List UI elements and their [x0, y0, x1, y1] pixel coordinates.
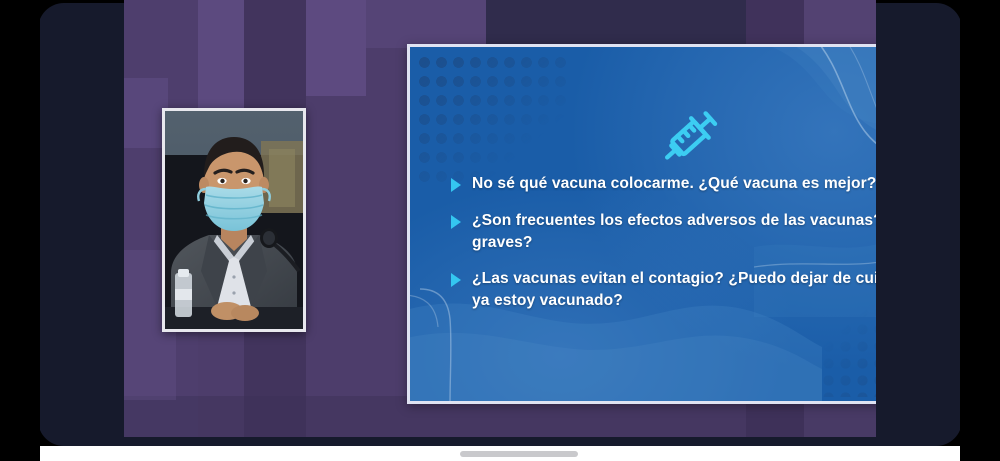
triangle-bullet-icon	[451, 178, 461, 192]
syringe-icon	[653, 105, 729, 167]
bullet-text: ¿Las vacunas evitan el contagio? ¿Puedo …	[472, 268, 876, 312]
right-gutter	[960, 0, 1000, 446]
shared-screen-area[interactable]: No sé qué vacuna colocarme. ¿Qué vacuna …	[124, 0, 876, 437]
list-item: ¿Son frecuentes los efectos adversos de …	[451, 210, 876, 254]
triangle-bullet-icon	[451, 273, 461, 287]
triangle-bullet-icon	[451, 215, 461, 229]
halftone-dots-icon	[416, 53, 566, 188]
list-item: ¿Las vacunas evitan el contagio? ¿Puedo …	[451, 268, 876, 312]
presentation-slide[interactable]: No sé qué vacuna colocarme. ¿Qué vacuna …	[407, 44, 876, 404]
background-block	[306, 0, 366, 96]
screen-capture: No sé qué vacuna colocarme. ¿Qué vacuna …	[0, 0, 1000, 461]
list-item: No sé qué vacuna colocarme. ¿Qué vacuna …	[451, 173, 876, 195]
video-feed	[165, 111, 303, 329]
speaker-video-tile[interactable]	[162, 108, 306, 332]
bullet-text: ¿Son frecuentes los efectos adversos de …	[472, 210, 876, 254]
slide-bullet-list: No sé qué vacuna colocarme. ¿Qué vacuna …	[451, 173, 876, 312]
slide-canvas: No sé qué vacuna colocarme. ¿Qué vacuna …	[410, 47, 876, 401]
horizontal-scrollbar[interactable]	[460, 451, 578, 457]
background-block	[366, 0, 486, 48]
left-gutter	[0, 0, 40, 446]
bullet-text: No sé qué vacuna colocarme. ¿Qué vacuna …	[472, 173, 876, 195]
